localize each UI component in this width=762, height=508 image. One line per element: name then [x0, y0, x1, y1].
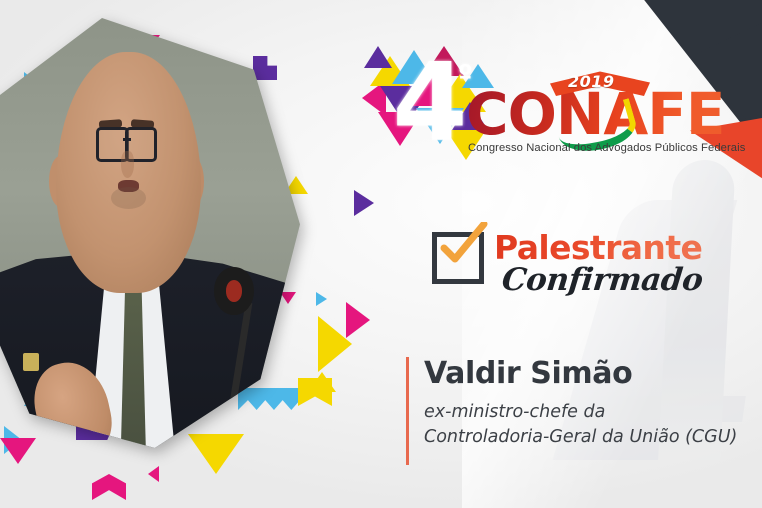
speaker-portrait — [0, 18, 300, 448]
confetti-triangle-purple — [354, 190, 374, 216]
speaker-role: ex-ministro-chefe da Controladoria-Geral… — [424, 400, 737, 450]
portrait-image — [0, 18, 300, 448]
checkmark-icon — [440, 222, 488, 268]
portrait-chin — [111, 187, 146, 209]
badge-line-confirmado: Confirmado — [500, 262, 704, 298]
confirmed-speaker-badge: Palestrante Confirmado — [432, 228, 712, 316]
logo-year: 2019 — [568, 72, 615, 91]
portrait-lapel-pin — [23, 353, 40, 370]
confetti-triangle-cyan — [316, 292, 327, 306]
portrait-nose — [121, 151, 134, 177]
accent-rule — [406, 357, 409, 465]
speaker-announcement-poster: 4 º CONAFE 2019 Congresso Nacional dos A… — [0, 0, 762, 508]
portrait-head — [56, 52, 201, 293]
confetti-triangle-magenta — [346, 302, 370, 338]
conafe-logo: 4 º CONAFE 2019 Congresso Nacional dos A… — [362, 46, 692, 168]
confetti-triangle-magenta — [148, 466, 159, 482]
glasses-bridge — [123, 138, 130, 141]
speaker-role-line-1: ex-ministro-chefe da — [424, 400, 737, 425]
logo-subtitle: Congresso Nacional dos Advogados Público… — [468, 142, 745, 154]
microphone-indicator-light — [226, 280, 243, 302]
speaker-info-block: Valdir Simão ex-ministro-chefe da Contro… — [406, 352, 756, 472]
speaker-role-line-2: Controladoria-Geral da União (CGU) — [424, 425, 737, 450]
speaker-name: Valdir Simão — [424, 356, 632, 391]
